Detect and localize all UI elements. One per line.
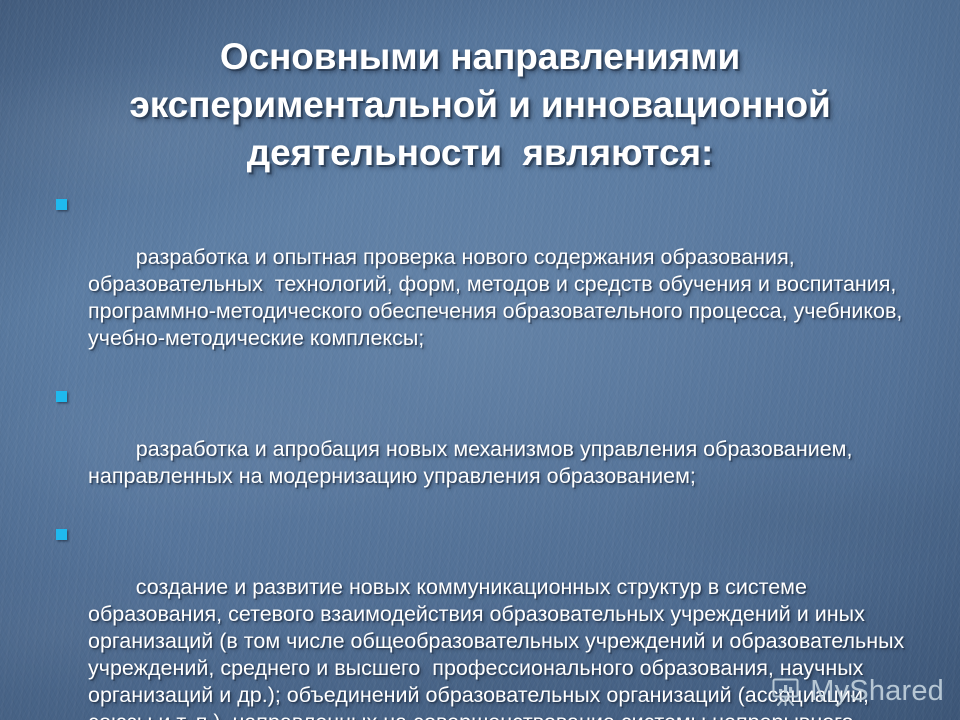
presentation-slide: Основными направлениями экспериментально… [0, 0, 960, 720]
bullet-list: разработка и опытная проверка нового сод… [0, 177, 960, 720]
list-item-text: разработка и апробация новых механизмов … [88, 437, 858, 488]
slide-content: Основными направлениями экспериментально… [0, 0, 960, 720]
page-title: Основными направлениями экспериментально… [0, 0, 960, 177]
square-bullet-icon [56, 391, 67, 402]
square-bullet-icon [56, 199, 67, 210]
list-item: разработка и апробация новых механизмов … [38, 382, 934, 517]
myshared-label: MyShared [810, 677, 944, 706]
list-item-text: разработка и опытная проверка нового сод… [88, 245, 908, 350]
list-item: разработка и опытная проверка нового сод… [38, 190, 934, 379]
presentation-chart-icon [769, 674, 803, 708]
myshared-watermark: MyShared [769, 674, 944, 708]
square-bullet-icon [56, 529, 67, 540]
